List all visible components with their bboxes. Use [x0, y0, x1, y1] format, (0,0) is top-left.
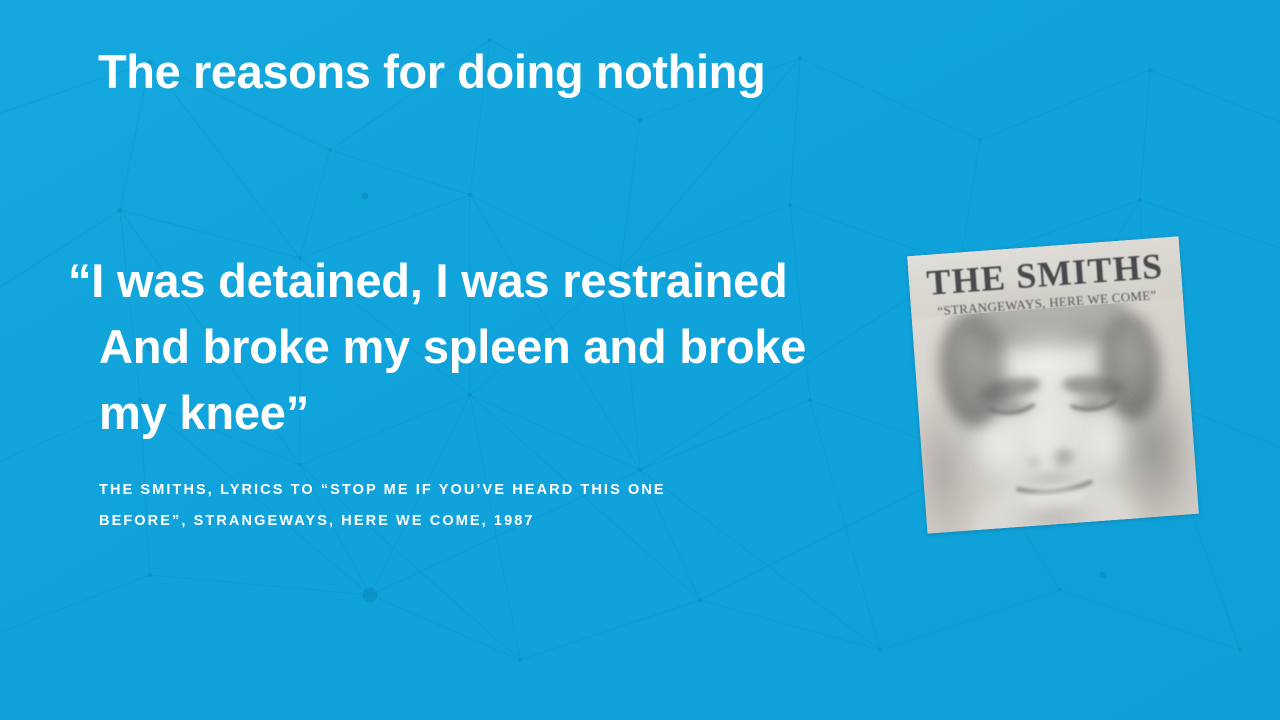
- attribution-line-1: THE SMITHS, LYRICS TO “STOP ME IF YOU’VE…: [99, 475, 859, 506]
- slide: The reasons for doing nothing “I was det…: [0, 0, 1280, 720]
- quote-line-2: And broke my spleen and broke: [68, 314, 898, 380]
- pull-quote: “I was detained, I was restrained And br…: [68, 248, 898, 446]
- attribution-line-2: BEFORE”, STRANGEWAYS, HERE WE COME, 1987: [99, 506, 859, 537]
- quote-line-3: my knee”: [68, 380, 898, 446]
- quote-attribution: THE SMITHS, LYRICS TO “STOP ME IF YOU’VE…: [99, 475, 859, 537]
- album-cover-artwork: THE SMITHS “STRANGEWAYS, HERE WE COME”: [907, 236, 1199, 533]
- album-cover-image: THE SMITHS “STRANGEWAYS, HERE WE COME”: [907, 236, 1199, 533]
- page-title: The reasons for doing nothing: [98, 44, 1058, 100]
- quote-line-1: “I was detained, I was restrained: [68, 248, 898, 314]
